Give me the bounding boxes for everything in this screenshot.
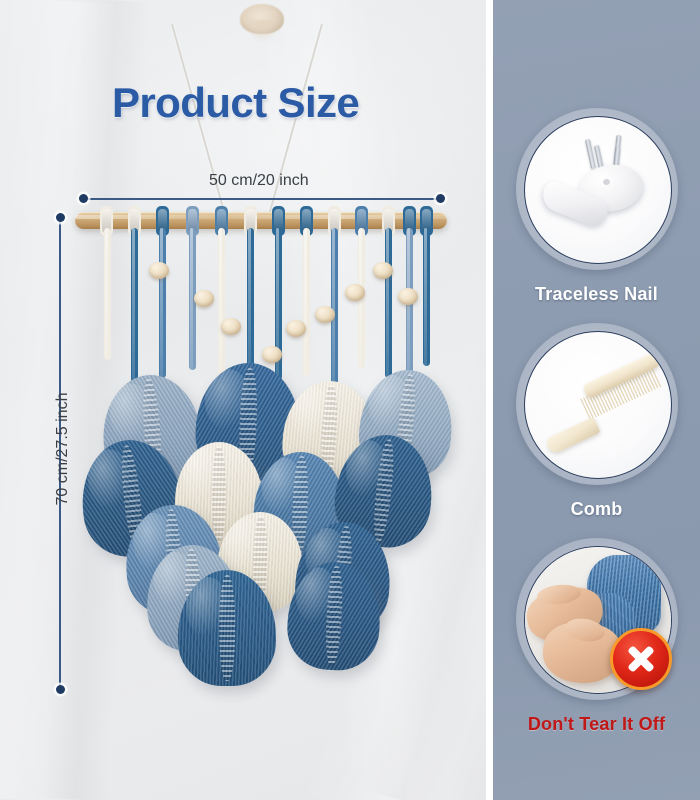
red-x-badge-icon [610, 628, 672, 690]
accessories-panel: Traceless Nail Comb [493, 0, 700, 800]
width-dimension-line [82, 198, 440, 200]
leaf-blade [178, 570, 276, 686]
cord [104, 228, 111, 360]
width-dimension-endpoint-left [79, 194, 88, 203]
leaf-highlight [182, 448, 221, 502]
panel-divider [486, 0, 493, 800]
width-dimension-label: 50 cm/20 inch [209, 172, 309, 190]
height-dimension-endpoint-top [56, 213, 65, 222]
wooden-bead [221, 318, 241, 335]
page-title: Product Size [112, 79, 359, 127]
width-dimension-endpoint-right [436, 194, 445, 203]
wooden-bead [262, 346, 282, 363]
product-size-panel: Product Size 50 cm/20 inch 70 cm/27.5 in… [0, 0, 486, 800]
height-dimension-endpoint-bottom [56, 685, 65, 694]
top-knot [240, 4, 284, 34]
height-dimension-label: 70 cm/27.5 inch [54, 379, 72, 519]
leaf-highlight [186, 577, 229, 637]
dont-tear-image [516, 538, 678, 700]
comb-handle [544, 417, 600, 455]
nail-pin [584, 139, 595, 169]
cord [423, 228, 430, 366]
cord [385, 228, 392, 378]
traceless-nail-image [516, 108, 678, 270]
infographic-stage: Product Size 50 cm/20 inch 70 cm/27.5 in… [0, 0, 700, 800]
cord [331, 228, 338, 386]
leaf-blade [285, 560, 383, 673]
cord [218, 228, 225, 383]
accessory-card-comb: Comb [493, 323, 700, 520]
macrame-leaf [285, 560, 383, 673]
macrame-leaf [178, 570, 276, 686]
cord [247, 228, 254, 368]
cord [131, 228, 138, 388]
wooden-bead [398, 288, 418, 305]
accessory-card-dont-tear: Don't Tear It Off [493, 538, 700, 735]
wooden-bead [315, 306, 335, 323]
cord [303, 228, 310, 376]
nail-center-hole [603, 179, 610, 185]
circle-frame-inner [524, 116, 672, 264]
comb-image [516, 323, 678, 485]
cord [159, 228, 166, 378]
traceless-nail-label: Traceless Nail [493, 284, 700, 305]
comb-label: Comb [493, 499, 700, 520]
wooden-bead [286, 320, 306, 337]
dont-tear-label: Don't Tear It Off [493, 714, 700, 735]
wooden-bead [345, 284, 365, 301]
wooden-bead [194, 290, 214, 307]
accessory-card-traceless-nail: Traceless Nail [493, 108, 700, 305]
wooden-bead [373, 262, 393, 279]
wooden-bead [149, 262, 169, 279]
circle-frame-inner [524, 331, 672, 479]
